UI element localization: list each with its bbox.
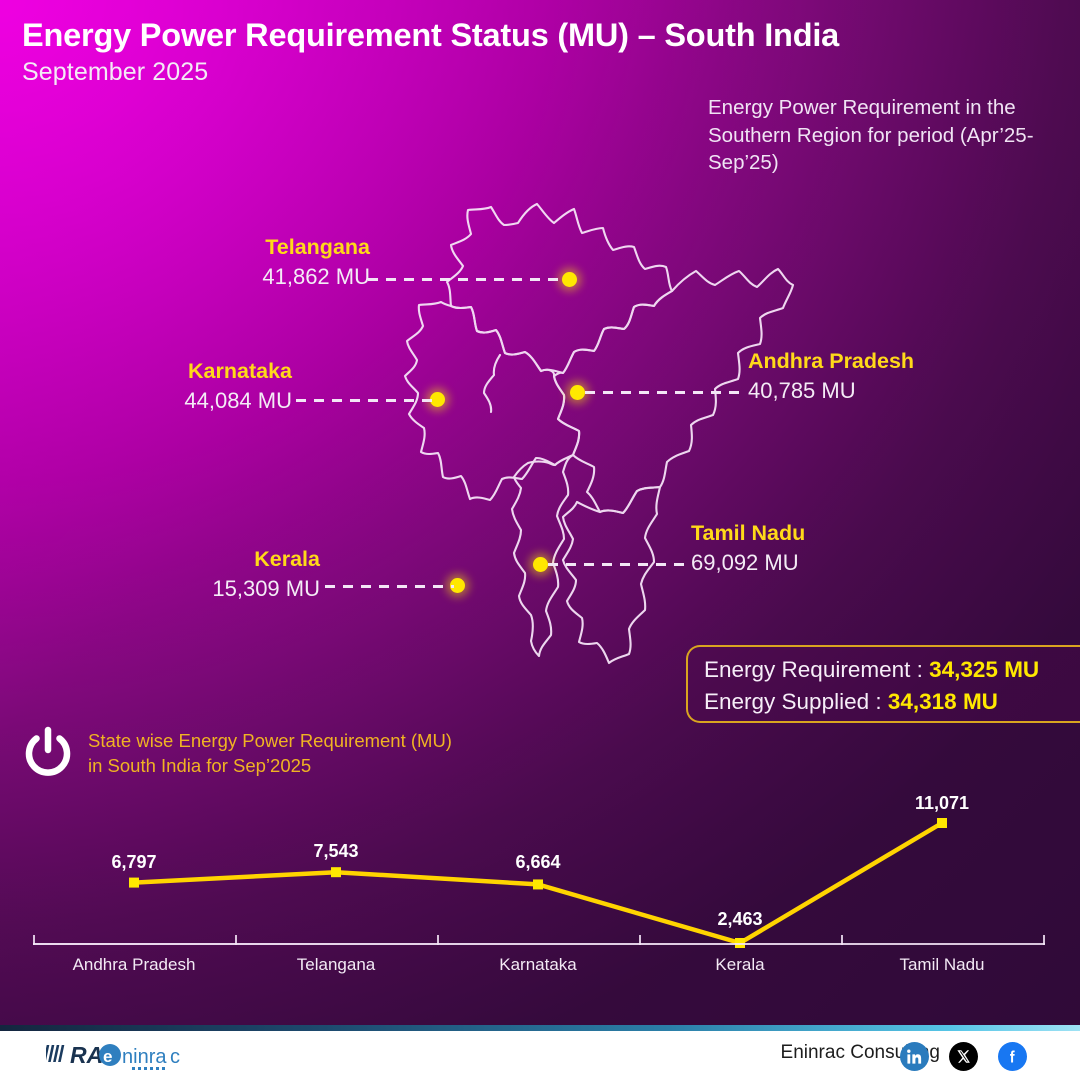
x-axis-label-0: Andhra Pradesh	[73, 955, 196, 975]
summary-supplied-row: Energy Supplied : 34,318 MU	[704, 686, 1080, 718]
x-axis-tick	[841, 935, 843, 945]
data-point-2	[533, 879, 543, 889]
power-icon	[22, 726, 74, 778]
series-markers	[129, 818, 947, 948]
summary-requirement-row: Energy Requirement : 34,325 MU	[704, 654, 1080, 686]
page-title: Energy Power Requirement Status (MU) – S…	[22, 18, 1062, 52]
x-axis-label-2: Karnataka	[499, 955, 577, 975]
x-axis-tick	[437, 935, 439, 945]
x-axis-line	[33, 943, 1045, 945]
svg-text:e: e	[103, 1047, 112, 1066]
chart-heading: State wise Energy Power Requirement (MU)…	[88, 729, 558, 779]
facebook-icon[interactable]	[998, 1042, 1027, 1071]
data-label-3: 2,463	[717, 909, 762, 930]
summary-supplied-value: 34,318 MU	[888, 689, 998, 714]
summary-box: Energy Requirement : 34,325 MU Energy Su…	[686, 645, 1080, 723]
infographic-canvas: Energy Power Requirement Status (MU) – S…	[0, 0, 1080, 1080]
svg-text:c: c	[170, 1046, 180, 1068]
x-axis-tick	[33, 935, 35, 945]
eninrac-logo: RA e ninra c	[46, 1039, 196, 1073]
linkedin-icon[interactable]	[900, 1042, 929, 1071]
data-point-4	[937, 818, 947, 828]
x-axis-tick	[235, 935, 237, 945]
data-label-1: 7,543	[313, 841, 358, 862]
page-subtitle: September 2025	[22, 58, 1062, 87]
data-label-0: 6,797	[111, 852, 156, 873]
header: Energy Power Requirement Status (MU) – S…	[22, 18, 1062, 87]
svg-text:RA: RA	[70, 1042, 103, 1068]
x-axis-label-1: Telangana	[297, 955, 375, 975]
svg-text:ninra: ninra	[122, 1046, 167, 1068]
data-label-2: 6,664	[515, 852, 560, 873]
x-axis-label-4: Tamil Nadu	[899, 955, 984, 975]
x-twitter-icon[interactable]	[949, 1042, 978, 1071]
data-point-1	[331, 867, 341, 877]
header-caption: Energy Power Requirement in the Southern…	[708, 94, 1058, 177]
summary-supplied-label: Energy Supplied :	[704, 689, 888, 714]
summary-requirement-value: 34,325 MU	[929, 657, 1039, 682]
line-chart: Andhra Pradesh Telangana Karnataka Keral…	[0, 780, 1080, 995]
x-axis-label-3: Kerala	[715, 955, 764, 975]
chart-heading-line2: in South India for Sep’2025	[88, 754, 558, 779]
data-label-4: 11,071	[915, 793, 969, 814]
x-axis-tick	[1043, 935, 1045, 945]
data-point-0	[129, 878, 139, 888]
x-axis-tick	[639, 935, 641, 945]
chart-heading-line1: State wise Energy Power Requirement (MU)	[88, 729, 558, 754]
summary-requirement-label: Energy Requirement :	[704, 657, 929, 682]
